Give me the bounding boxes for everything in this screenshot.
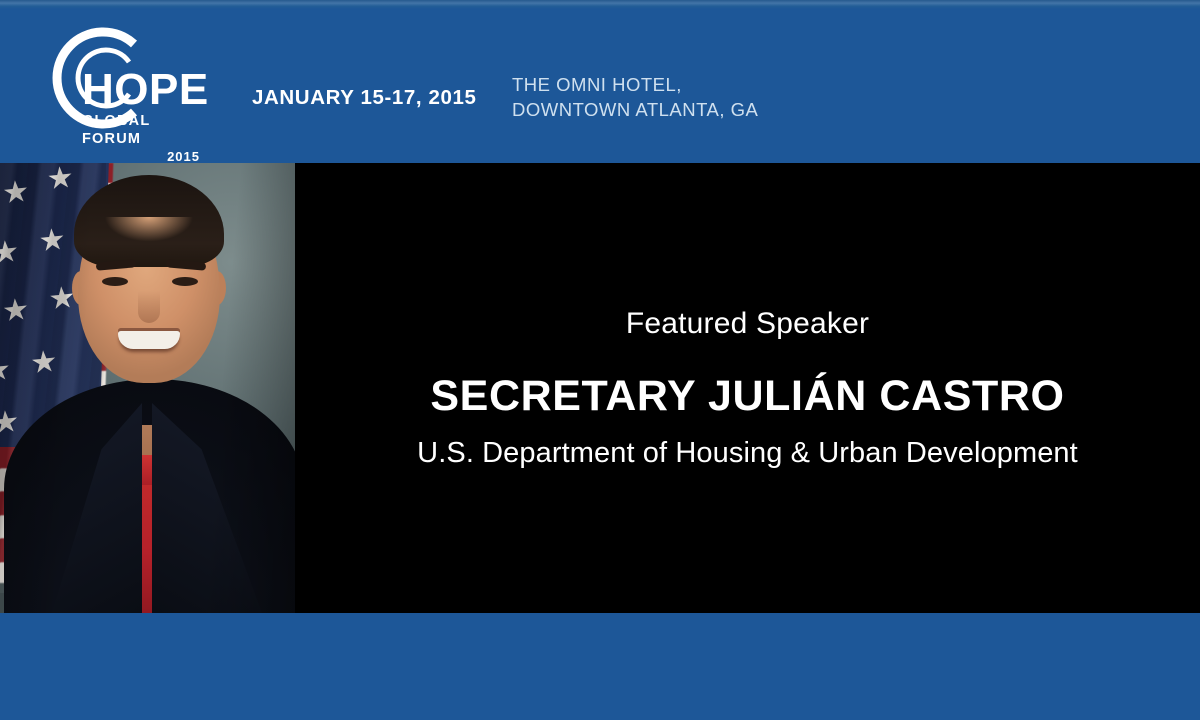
portrait-left-eye xyxy=(102,277,128,286)
portrait-smile xyxy=(118,331,180,349)
venue-line-1: THE OMNI HOTEL, xyxy=(512,72,758,97)
portrait-nose xyxy=(138,291,160,323)
speaker-portrait-photo xyxy=(0,163,295,613)
header-top-artifact-strip xyxy=(0,0,1200,9)
logo-year: 2015 xyxy=(82,149,200,163)
logo-subtitle: GLOBAL FORUM xyxy=(82,112,212,148)
logo-wordmark: HOPE GLOBAL FORUM 2015 xyxy=(82,70,212,163)
venue-line-2: DOWNTOWN ATLANTA, GA xyxy=(512,97,758,122)
hope-global-forum-logo: HOPE GLOBAL FORUM 2015 xyxy=(30,22,205,140)
event-dates: JANUARY 15-17, 2015 xyxy=(252,86,477,110)
header-band: HOPE GLOBAL FORUM 2015 JANUARY 15-17, 20… xyxy=(0,0,1200,163)
event-venue: THE OMNI HOTEL, DOWNTOWN ATLANTA, GA xyxy=(512,72,758,122)
footer-band xyxy=(0,613,1200,720)
featured-speaker-label: Featured Speaker xyxy=(626,305,869,343)
speaker-text-block: Featured Speaker SECRETARY JULIÁN CASTRO… xyxy=(295,163,1200,613)
speaker-organization: U.S. Department of Housing & Urban Devel… xyxy=(417,435,1078,471)
speaker-name: SECRETARY JULIÁN CASTRO xyxy=(430,371,1064,421)
logo-title: HOPE xyxy=(82,70,212,110)
presentation-slide: HOPE GLOBAL FORUM 2015 JANUARY 15-17, 20… xyxy=(0,0,1200,720)
portrait-right-eye xyxy=(172,277,198,286)
